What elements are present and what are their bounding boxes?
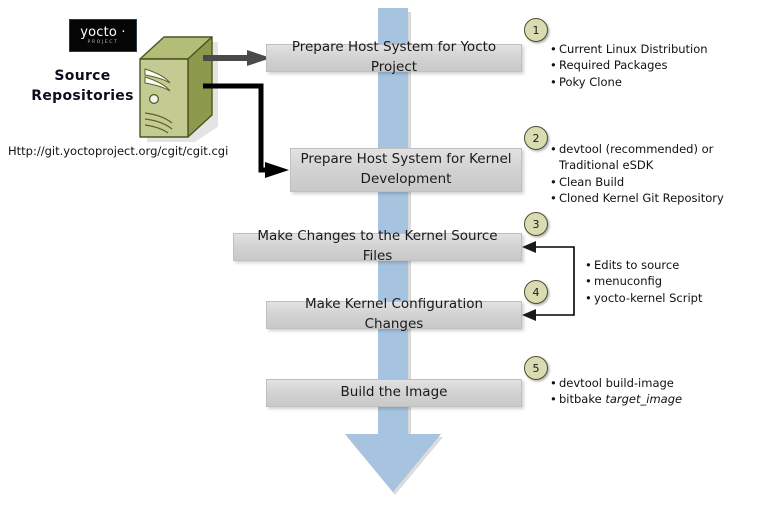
connector-server-to-step1 <box>203 47 273 69</box>
bullet-list-step-2: • devtool (recommended) or Traditional e… <box>550 141 728 206</box>
bullet-list-step-5: • devtool build-image • bitbake target_i… <box>550 375 750 408</box>
process-box-step-5[interactable]: Build the Image <box>266 379 522 407</box>
process-box-step-2-label-line2: Development <box>361 170 452 190</box>
bullet-text: Cloned Kernel Git Repository <box>559 190 728 206</box>
yocto-project-logo: yocto · PROJECT <box>69 19 137 52</box>
process-box-step-3-label: Make Changes to the Kernel Source Files <box>242 227 513 266</box>
bullet-dot-icon: • <box>550 74 559 90</box>
process-box-step-1[interactable]: Prepare Host System for Yocto Project <box>266 44 522 72</box>
list-item: • Current Linux Distribution <box>550 41 750 57</box>
bullet-dot-icon: • <box>550 57 559 73</box>
step-badge-3: 3 <box>524 212 548 236</box>
logo-subtext: PROJECT <box>87 41 118 46</box>
process-box-step-4[interactable]: Make Kernel Configuration Changes <box>266 301 522 329</box>
list-item: • bitbake target_image <box>550 391 750 407</box>
process-box-step-1-label: Prepare Host System for Yocto Project <box>275 38 513 77</box>
step-badge-5: 5 <box>524 356 548 380</box>
diagram-canvas: yocto · PROJECT Source Repositories Http… <box>0 0 769 517</box>
step-badge-2: 2 <box>524 126 548 150</box>
source-repository-url: Http://git.yoctoproject.org/cgit/cgit.cg… <box>8 144 228 158</box>
bullet-dot-icon: • <box>550 375 559 391</box>
bullet-text: Clean Build <box>559 174 728 190</box>
logo-wordmark: yocto · <box>80 26 126 39</box>
step-badge-4-number: 4 <box>533 286 540 299</box>
bullet-text: Poky Clone <box>559 74 750 90</box>
bullet-dot-icon: • <box>550 141 559 157</box>
list-item: • Clean Build <box>550 174 728 190</box>
bullet-list-step-1: • Current Linux Distribution • Required … <box>550 41 750 90</box>
source-repositories-label: Source Repositories <box>20 66 145 107</box>
process-box-step-2-label-line1: Prepare Host System for Kernel <box>300 150 511 170</box>
bullet-dot-icon: • <box>550 41 559 57</box>
bullet-text-italic: target_image <box>605 392 682 406</box>
source-label-line1: Source <box>20 66 145 86</box>
bullet-text: yocto-kernel Script <box>594 290 769 306</box>
bullet-dot-icon: • <box>550 190 559 206</box>
bullet-text: devtool build-image <box>559 375 750 391</box>
list-item: • Required Packages <box>550 57 750 73</box>
bullet-list-steps-3-4: • Edits to source • menuconfig • yocto-k… <box>585 257 769 306</box>
step-badge-1-number: 1 <box>533 24 540 37</box>
step-badge-2-number: 2 <box>533 132 540 145</box>
source-label-line2: Repositories <box>20 86 145 106</box>
list-item: • Cloned Kernel Git Repository <box>550 190 728 206</box>
process-box-step-2[interactable]: Prepare Host System for Kernel Developme… <box>290 148 522 192</box>
list-item: • yocto-kernel Script <box>585 290 769 306</box>
bullet-dot-icon: • <box>585 290 594 306</box>
bullet-text: Edits to source <box>594 257 769 273</box>
step-badge-5-number: 5 <box>533 362 540 375</box>
bullet-dot-icon: • <box>585 257 594 273</box>
bullet-dot-icon: • <box>550 391 559 407</box>
list-item: • Poky Clone <box>550 74 750 90</box>
bullet-text-prefix: bitbake <box>559 392 605 406</box>
process-box-step-4-label: Make Kernel Configuration Changes <box>275 295 513 334</box>
bullet-text: menuconfig <box>594 273 769 289</box>
process-box-step-5-label: Build the Image <box>341 383 448 403</box>
bullet-dot-icon: • <box>585 273 594 289</box>
workflow-arrowhead <box>345 434 441 492</box>
connector-server-to-step2 <box>203 82 293 182</box>
bullet-text-mixed: bitbake target_image <box>559 391 750 407</box>
step-badge-3-number: 3 <box>533 218 540 231</box>
list-item: • devtool (recommended) or Traditional e… <box>550 141 728 174</box>
step-badge-4: 4 <box>524 280 548 304</box>
list-item: • devtool build-image <box>550 375 750 391</box>
list-item: • Edits to source <box>585 257 769 273</box>
bullet-text: Current Linux Distribution <box>559 41 750 57</box>
process-box-step-3[interactable]: Make Changes to the Kernel Source Files <box>233 233 522 261</box>
bullet-text: devtool (recommended) or Traditional eSD… <box>559 141 728 174</box>
step-badge-1: 1 <box>524 18 548 42</box>
list-item: • menuconfig <box>585 273 769 289</box>
bullet-dot-icon: • <box>550 174 559 190</box>
bullet-text: Required Packages <box>559 57 750 73</box>
